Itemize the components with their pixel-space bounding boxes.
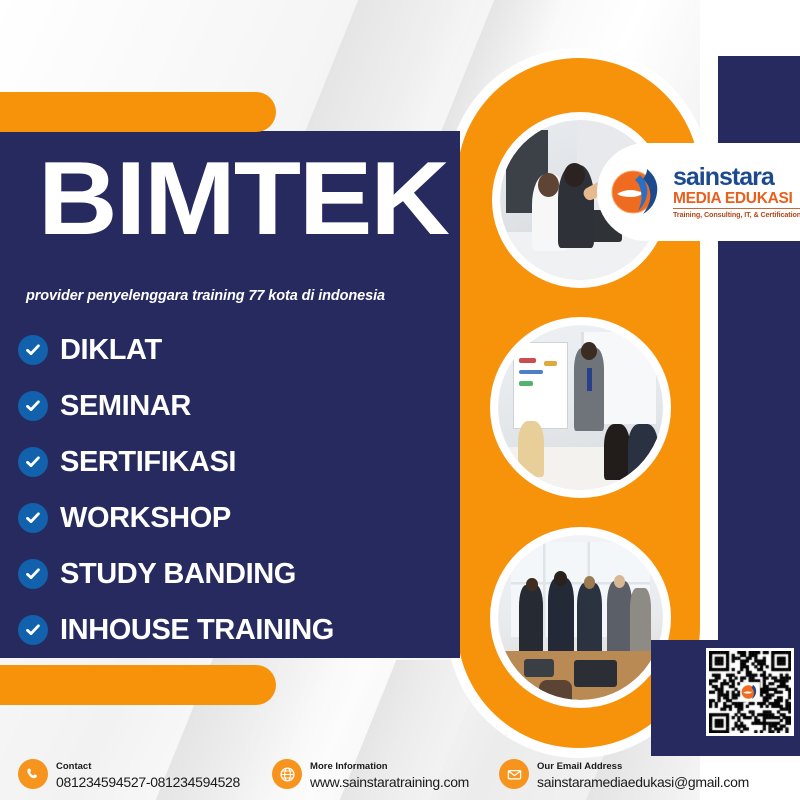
top-orange-bar bbox=[0, 92, 276, 132]
subtitle: provider penyelenggara training 77 kota … bbox=[26, 288, 446, 304]
check-icon bbox=[18, 503, 48, 533]
logo-wordmark: sainstara bbox=[673, 165, 800, 190]
logo-subtitle: MEDIA EDUKASI bbox=[673, 190, 800, 208]
check-icon bbox=[18, 615, 48, 645]
list-item-label: STUDY BANDING bbox=[60, 558, 296, 591]
list-item: STUDY BANDING bbox=[0, 546, 440, 602]
footer-item-email: Our Email Address sainstaramediaedukasi@… bbox=[499, 756, 749, 792]
sainstara-flame-icon bbox=[607, 161, 669, 223]
footer-item-contact: Contact 081234594527-081234594528 bbox=[18, 756, 240, 792]
check-icon bbox=[18, 391, 48, 421]
check-icon bbox=[18, 447, 48, 477]
qr-center-logo-icon bbox=[740, 682, 760, 702]
logo-tagline: Training, Consulting, IT, & Certificatio… bbox=[673, 208, 800, 219]
poster-canvas: BIMTEK provider penyelenggara training 7… bbox=[0, 0, 800, 800]
page-title: BIMTEK bbox=[38, 150, 462, 249]
list-item-label: INHOUSE TRAINING bbox=[60, 614, 334, 647]
envelope-icon bbox=[499, 759, 529, 789]
list-item: DIKLAT bbox=[0, 322, 440, 378]
brand-logo-card: sainstara MEDIA EDUKASI Training, Consul… bbox=[597, 143, 800, 241]
bottom-orange-bar bbox=[0, 665, 276, 705]
footer-label: Our Email Address bbox=[537, 761, 622, 772]
list-item-label: SEMINAR bbox=[60, 390, 191, 423]
list-item: SEMINAR bbox=[0, 378, 440, 434]
photo-training-presentation bbox=[498, 325, 663, 490]
list-item-label: SERTIFIKASI bbox=[60, 446, 236, 479]
list-item-label: WORKSHOP bbox=[60, 502, 231, 535]
check-icon bbox=[18, 335, 48, 365]
footer-value: 081234594527-081234594528 bbox=[56, 774, 240, 792]
services-list: DIKLAT SEMINAR SERTIFIKASI WORKSHOP STUD… bbox=[0, 322, 440, 658]
footer-label: More Information bbox=[310, 761, 388, 772]
list-item: SERTIFIKASI bbox=[0, 434, 440, 490]
list-item: WORKSHOP bbox=[0, 490, 440, 546]
photo-business-meeting bbox=[498, 535, 663, 700]
phone-icon bbox=[18, 759, 48, 789]
footer-value: sainstaramediaedukasi@gmail.com bbox=[537, 774, 749, 792]
check-icon bbox=[18, 559, 48, 589]
right-strip-top-cap bbox=[700, 0, 800, 56]
footer-item-website: More Information www.sainstaratraining.c… bbox=[272, 756, 469, 792]
list-item-label: DIKLAT bbox=[60, 334, 162, 367]
globe-icon bbox=[272, 759, 302, 789]
footer-label: Contact bbox=[56, 761, 91, 772]
list-item: INHOUSE TRAINING bbox=[0, 602, 440, 658]
footer-contact-bar: Contact 081234594527-081234594528 More I… bbox=[0, 748, 800, 800]
footer-value: www.sainstaratraining.com bbox=[310, 774, 469, 792]
